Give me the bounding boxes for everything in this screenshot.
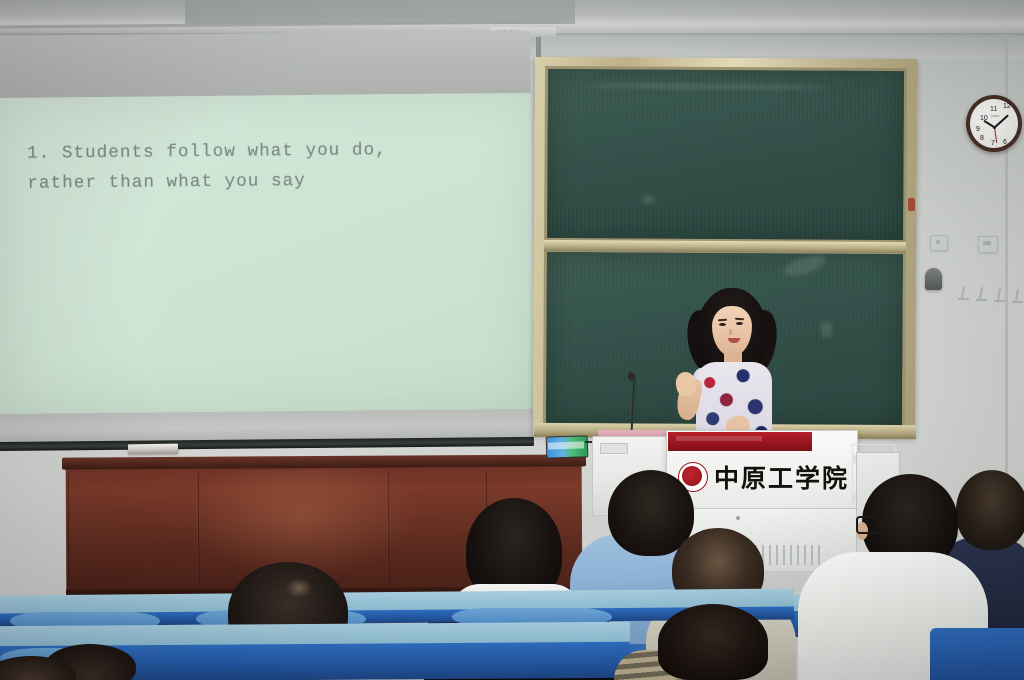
presenting-instructor <box>670 288 790 448</box>
nose <box>729 329 732 335</box>
clock-face: Quartz 12 11 10 9 8 7 6 <box>970 99 1018 148</box>
clock-numeral-11: 11 <box>990 106 997 113</box>
scalp-highlight <box>286 578 312 598</box>
university-seal-inner <box>682 466 702 486</box>
university-name-text: 中原工学院 <box>714 462 838 496</box>
slide-text-block: 1. Students follow what you do, rather t… <box>27 135 458 199</box>
wall-bell-icon <box>925 268 942 290</box>
slide-line-2: rather than what you say <box>27 165 457 199</box>
console-label-plate <box>600 443 628 454</box>
outlet-socket <box>936 240 940 244</box>
coat-hook-rail <box>958 286 1024 304</box>
chair-back-right <box>930 628 1024 680</box>
cabinet-panel <box>68 473 199 586</box>
board-clip <box>908 198 915 211</box>
eye-left <box>719 323 726 326</box>
glasses-icon <box>856 516 884 534</box>
lectern-indicator-dot <box>736 516 740 520</box>
microphone-icon <box>628 372 635 381</box>
blackboard-panel-upper <box>547 69 904 240</box>
blackboard-center-rail <box>544 240 906 253</box>
clock-center-pin <box>993 126 996 129</box>
chalk-smudge <box>641 195 655 203</box>
student-head-ponytail <box>658 604 768 680</box>
eye-right <box>736 322 743 325</box>
slide-line-1: 1. Students follow what you do, <box>27 135 457 169</box>
screen-blank-top-band <box>0 31 531 98</box>
clock-numeral-8: 8 <box>980 135 984 142</box>
outlet-socket <box>983 241 991 245</box>
chalk-smudge <box>820 322 832 338</box>
clock-numeral-7: 7 <box>991 140 995 147</box>
lectern-red-banner <box>668 432 812 451</box>
clock-numeral-12: 12 <box>1003 103 1011 110</box>
book-on-cabinet <box>128 444 178 455</box>
chalk-smudge <box>588 83 828 89</box>
clock-numeral-6: 6 <box>1003 139 1007 146</box>
projection-screen: 1. Students follow what you do, rather t… <box>0 31 534 448</box>
clock-numeral-9: 9 <box>976 126 980 133</box>
wall-clock: Quartz 12 11 10 9 8 7 6 <box>966 95 1022 152</box>
banner-highlight <box>676 436 762 441</box>
student-head-navy <box>956 470 1024 550</box>
box-label <box>548 441 584 449</box>
lecture-hall-photo: MITSUBISHI 1. Students follow what you d… <box>0 0 1024 680</box>
clock-brand-label: Quartz <box>987 114 1003 118</box>
chalk-smudge <box>781 251 828 280</box>
